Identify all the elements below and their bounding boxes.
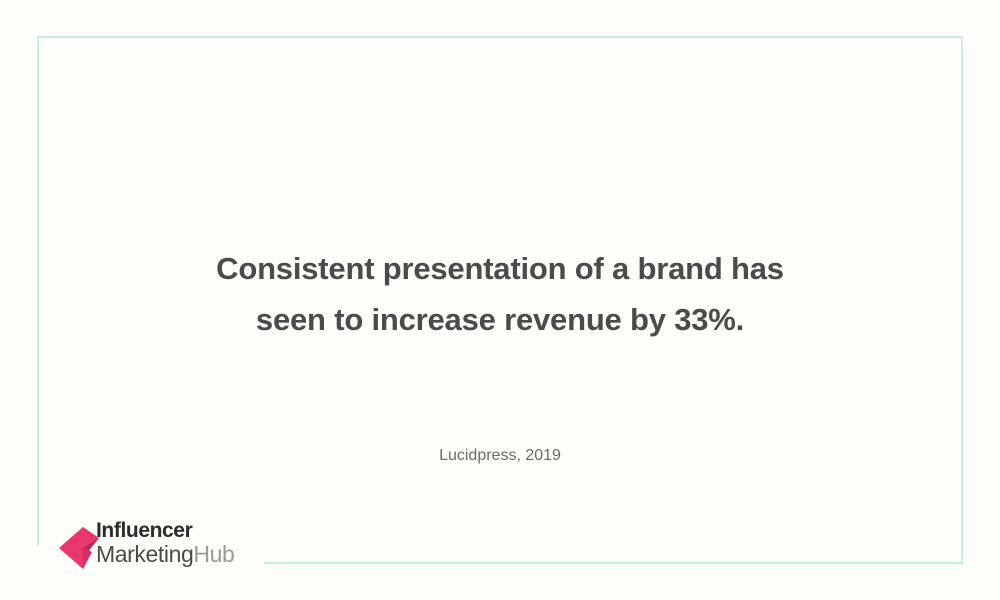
quote-block: Consistent presentation of a brand has s… <box>0 243 1000 345</box>
frame-border-top <box>37 36 963 38</box>
logo-line-marketinghub: MarketingHub <box>96 543 234 566</box>
influencer-marketing-hub-logo: Influencer MarketingHub <box>58 513 258 573</box>
quote-line-1: Consistent presentation of a brand has <box>0 243 1000 294</box>
quote-source: Lucidpress, 2019 <box>0 447 1000 465</box>
frame-border-bottom <box>264 562 963 564</box>
logo-line-influencer: Influencer <box>96 520 234 541</box>
quote-text: Consistent presentation of a brand has s… <box>0 243 1000 345</box>
logo-word-marketing: Marketing <box>96 541 193 567</box>
quote-line-2: seen to increase revenue by 33%. <box>0 294 1000 345</box>
quote-slide: Consistent presentation of a brand has s… <box>0 0 1000 600</box>
logo-wordmark: Influencer MarketingHub <box>96 520 234 566</box>
logo-word-hub: Hub <box>193 541 234 567</box>
